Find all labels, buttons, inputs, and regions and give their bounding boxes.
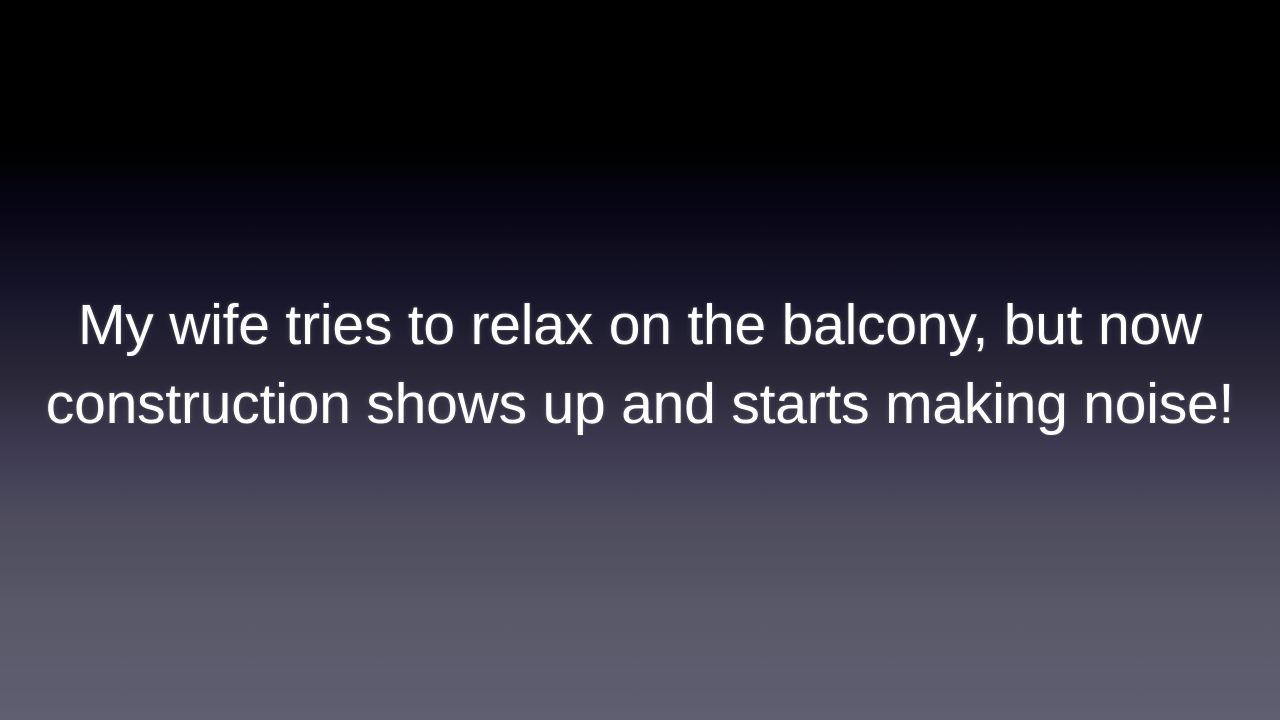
video-caption-frame: My wife tries to relax on the balcony, b…: [0, 0, 1280, 720]
caption-block: My wife tries to relax on the balcony, b…: [0, 286, 1280, 444]
caption-line-2: construction shows up and starts making …: [40, 365, 1240, 444]
caption-line-1: My wife tries to relax on the balcony, b…: [40, 286, 1240, 365]
